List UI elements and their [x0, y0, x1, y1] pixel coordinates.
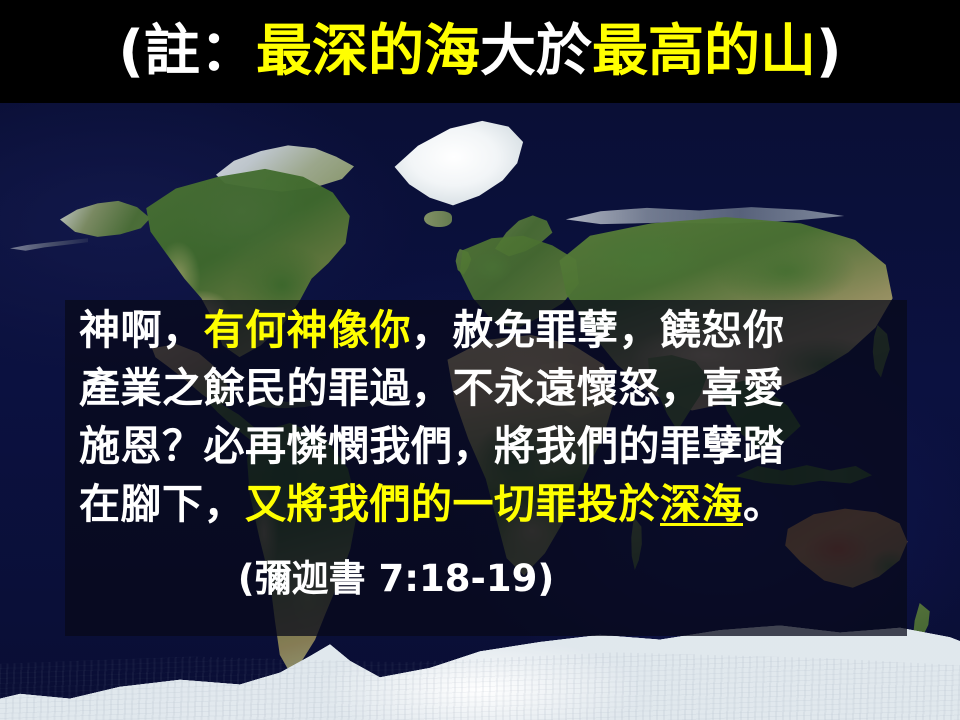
verse-line-4-segment-4: 。 [743, 480, 785, 528]
slide-title-bar: (註：最深的海大於最高的山) [0, 0, 960, 103]
verse-line-3-segment-1: 施恩？必再憐憫我們，將我們的罪孽踏 [79, 422, 785, 470]
verse-line-2-segment-1: 產業之餘民的罪過，不永遠懷怒，喜愛 [79, 364, 785, 412]
verse-line-3: 施恩？必再憐憫我們，將我們的罪孽踏 [79, 426, 893, 484]
verse-line-1-segment-1: 神啊， [79, 306, 204, 354]
verse-body: 神啊，有何神像你，赦免罪孽，饒恕你 產業之餘民的罪過，不永遠懷怒，喜愛 施恩？必… [79, 310, 893, 542]
title-segment-1: (註： [118, 19, 256, 84]
verse-citation: (彌迦書 7:18-19) [79, 548, 893, 602]
verse-line-2: 產業之餘民的罪過，不永遠懷怒，喜愛 [79, 368, 893, 426]
verse-line-1-segment-2: 有何神像你 [204, 306, 412, 354]
title-segment-5: ) [816, 19, 842, 84]
title-segment-3: 大於 [480, 19, 592, 84]
verse-line-4-segment-2: 又將我們的一切罪投於 [245, 480, 660, 528]
verse-line-4-segment-1: 在腳下， [79, 480, 245, 528]
verse-line-4-segment-3-emphasis: 深海 [660, 480, 743, 528]
verse-text-panel: 神啊，有何神像你，赦免罪孽，饒恕你 產業之餘民的罪過，不永遠懷怒，喜愛 施恩？必… [65, 300, 907, 636]
verse-line-4: 在腳下，又將我們的一切罪投於深海。 [79, 484, 893, 542]
title-segment-4: 最高的山 [592, 19, 816, 84]
map-region-iceland [424, 211, 452, 227]
slide-title: (註：最深的海大於最高的山) [118, 24, 841, 80]
antarctica-ice-texture [0, 648, 960, 720]
presentation-slide: (註：最深的海大於最高的山) 神啊，有何神像你，赦免罪孽，饒恕你 產業之餘民的罪… [0, 0, 960, 720]
verse-line-1-segment-3: ，赦免罪孽，饒恕你 [411, 306, 785, 354]
title-segment-2: 最深的海 [256, 19, 480, 84]
verse-line-1: 神啊，有何神像你，赦免罪孽，饒恕你 [79, 310, 893, 368]
